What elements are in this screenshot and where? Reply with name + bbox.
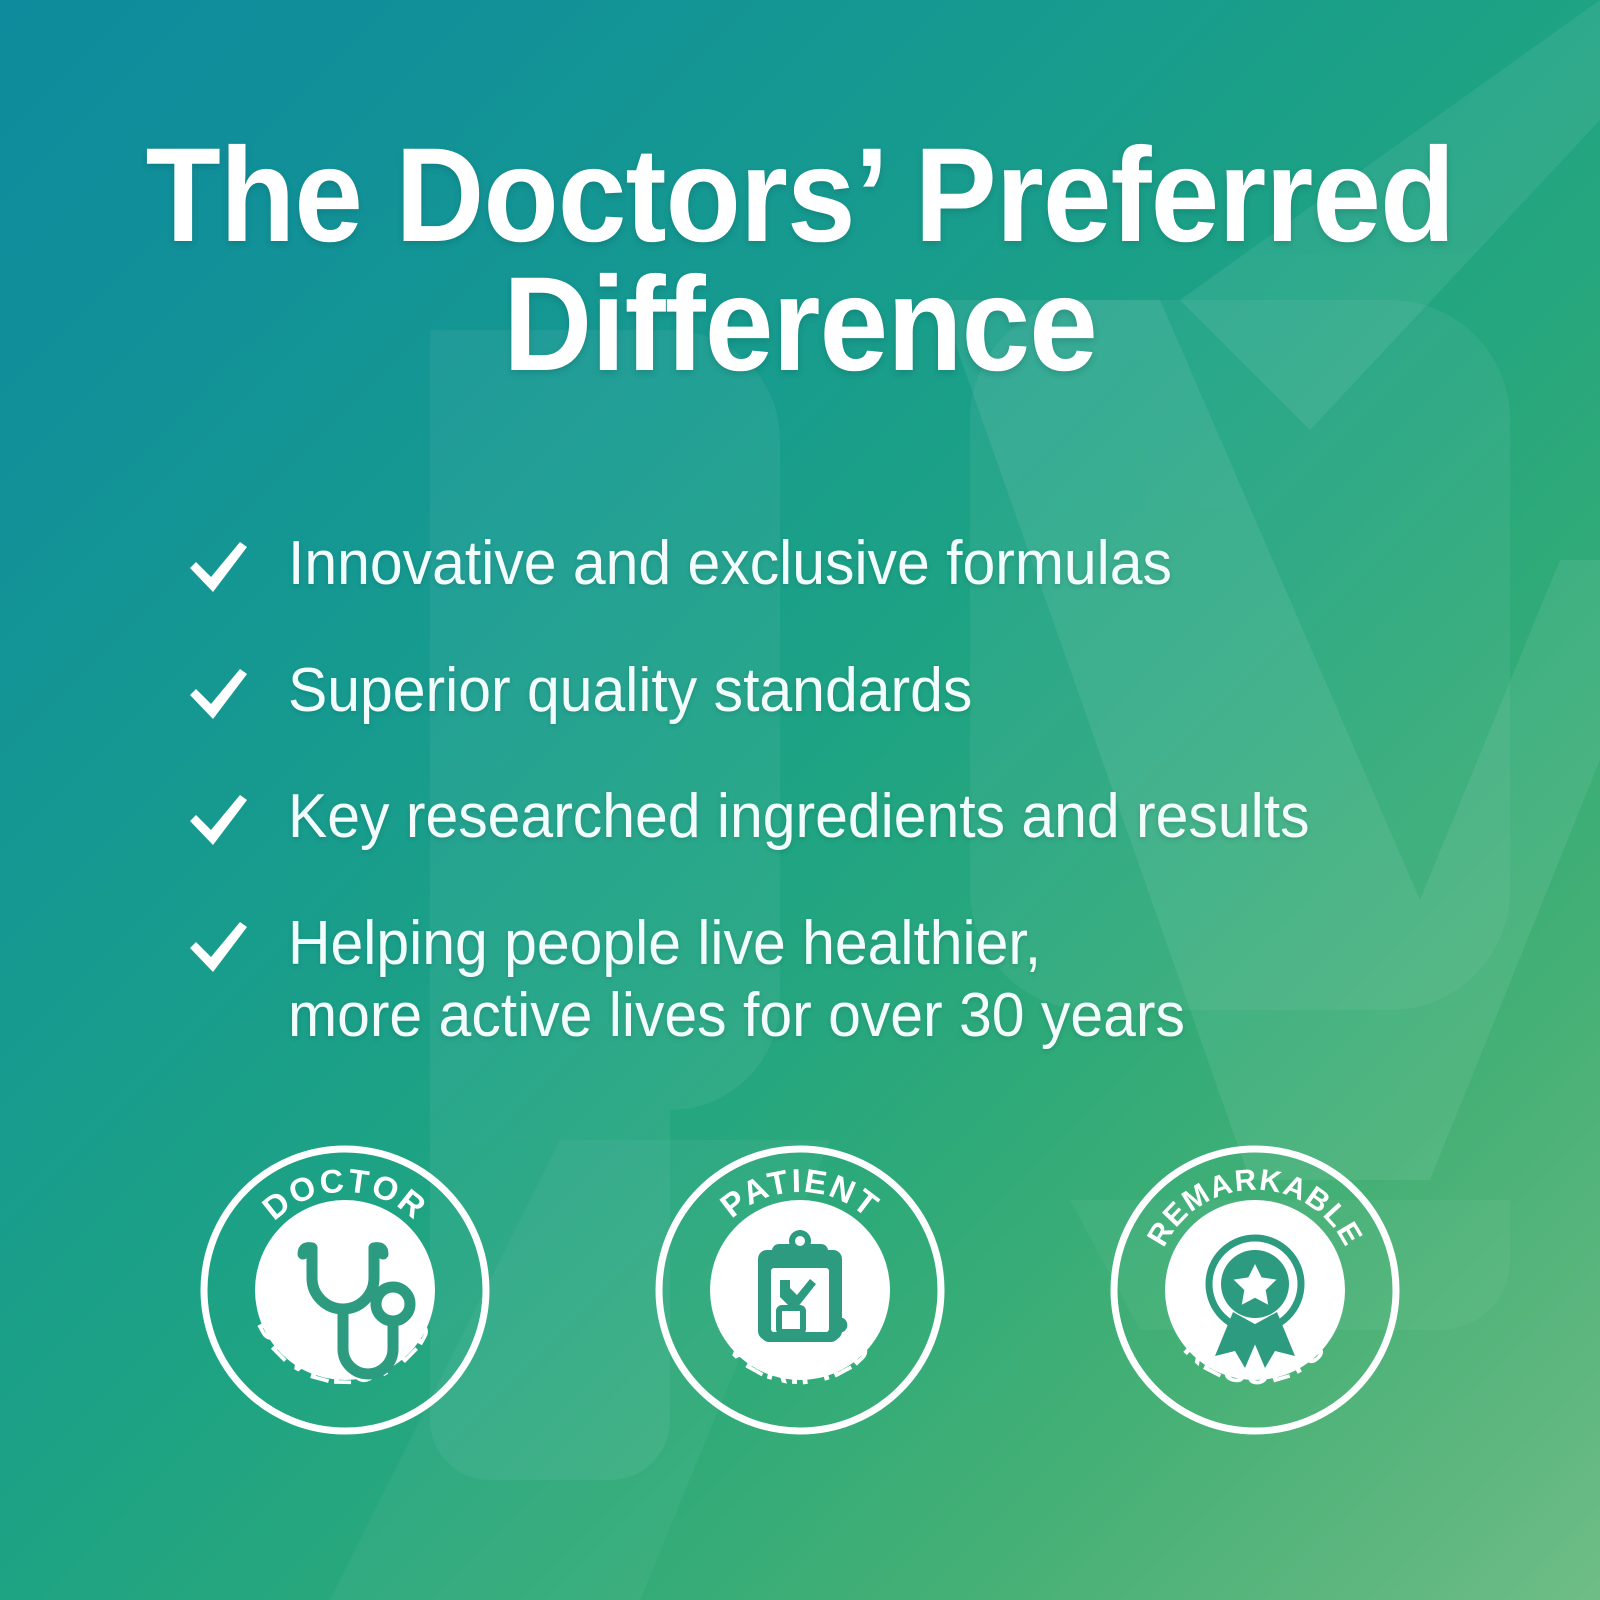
- page-title: The Doctors’ Preferred Difference: [64, 132, 1536, 389]
- list-item: Innovative and exclusive formulas: [186, 528, 1446, 601]
- list-item-label: Key researched ingredients and results: [288, 781, 1310, 854]
- list-item: Superior quality standards: [186, 655, 1446, 728]
- badge-patient-verified: PATIENT VERIFIED: [650, 1140, 950, 1440]
- checkmark-icon: [186, 663, 250, 725]
- poster-canvas: The Doctors’ Preferred Difference Innova…: [0, 0, 1600, 1600]
- list-item: Key researched ingredients and results: [186, 781, 1446, 854]
- list-item-label: Superior quality standards: [288, 655, 972, 728]
- benefits-list: Innovative and exclusive formulas Superi…: [186, 528, 1446, 1053]
- badge-remarkable-results: REMARKABLE RESULTS: [1105, 1140, 1405, 1440]
- badge-doctor-developed: DOCTOR DEVELOPED: [195, 1140, 495, 1440]
- list-item-label: Helping people live healthier, more acti…: [288, 908, 1185, 1053]
- list-item: Helping people live healthier, more acti…: [186, 908, 1446, 1053]
- checkmark-icon: [186, 916, 250, 978]
- checkmark-icon: [186, 789, 250, 851]
- checkmark-icon: [186, 536, 250, 598]
- list-item-label: Innovative and exclusive formulas: [288, 528, 1172, 601]
- trust-badges: DOCTOR DEVELOPED: [0, 1140, 1600, 1440]
